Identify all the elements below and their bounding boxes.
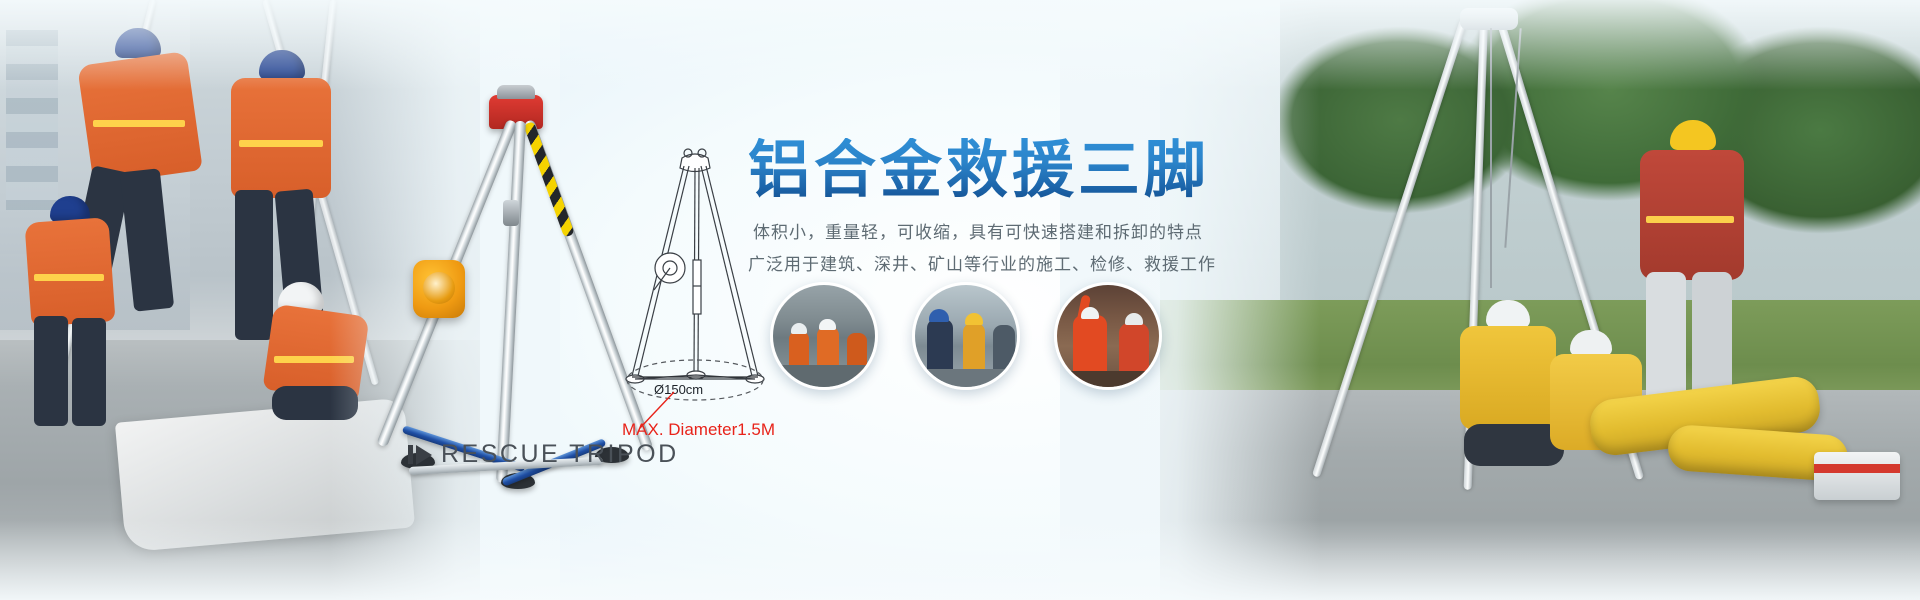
pulley-icon (503, 200, 519, 226)
thumb-helmet-icon (819, 319, 836, 330)
reflective-stripe (93, 120, 185, 127)
thumbnail-row (770, 282, 1190, 392)
thumb-ground (915, 369, 1020, 387)
worker-legs (1464, 424, 1564, 466)
worker-torso (231, 78, 331, 198)
reflective-stripe (34, 274, 104, 281)
top-fade (0, 0, 1920, 90)
thumb-ground (773, 365, 878, 387)
product-caption: RESCUE TRIPOD (408, 440, 679, 469)
thumb-rescue-site-1[interactable] (770, 282, 878, 390)
worker-torso (1460, 326, 1556, 430)
thumb-rescue-site-2[interactable] (912, 282, 1020, 390)
worker-legs (72, 318, 106, 426)
thumb-helmet-icon (1125, 313, 1143, 325)
equipment-case-red-stripe (1814, 464, 1900, 473)
worker-legs (235, 190, 273, 340)
worker-torso (24, 217, 115, 327)
thumb-helmet-icon (965, 313, 983, 325)
subtitle-line-1: 体积小，重量轻，可收缩，具有可快速搭建和拆卸的特点 (748, 217, 1208, 249)
worker-torso (1640, 150, 1744, 280)
caption-text: RESCUE TRIPOD (441, 440, 679, 469)
max-diameter-label: MAX. Diameter1.5M (622, 420, 775, 440)
play-marker-icon (408, 445, 432, 465)
thumb-helmet-icon (1081, 307, 1099, 319)
bottom-fade (0, 520, 1920, 600)
thumb-rescue-site-3[interactable] (1054, 282, 1162, 390)
tripod-leg-center (496, 121, 526, 483)
thumb-blue-helmet-icon (929, 309, 949, 322)
tripod-leg-hazard-stripe (523, 121, 574, 238)
product-banner: Ø150cm MAX. Diameter1.5M 铝合金救援三脚架 体积小，重量… (0, 0, 1920, 600)
page-title: 铝合金救援三脚架 (748, 138, 1208, 203)
reflective-stripe (1646, 216, 1734, 223)
thumb-helmet-icon (791, 323, 807, 334)
thumb-ground (1057, 371, 1162, 387)
worker-legs (34, 316, 68, 426)
equipment-case (1814, 452, 1900, 500)
winch-reel (413, 260, 465, 318)
reflective-stripe (239, 140, 323, 147)
text-block: 铝合金救援三脚架 体积小，重量轻，可收缩，具有可快速搭建和拆卸的特点 广泛用于建… (748, 138, 1208, 282)
subtitle-line-2: 广泛用于建筑、深井、矿山等行业的施工、检修、救援工作 (748, 249, 1208, 281)
